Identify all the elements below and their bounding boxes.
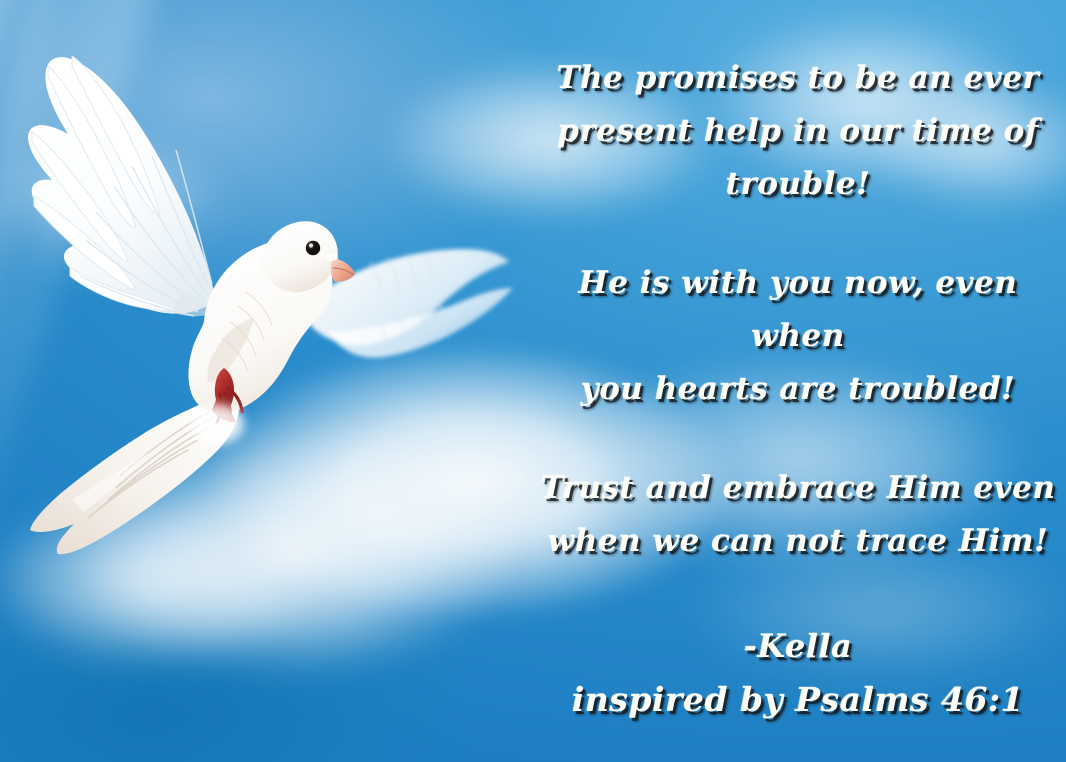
dove-illustration	[10, 0, 550, 560]
quote-author: -Kella	[540, 620, 1056, 673]
quote-line: The promises to be an ever	[540, 52, 1056, 105]
quote-text-block: The promises to be an ever present help …	[540, 52, 1056, 726]
quote-line: Trust and embrace Him even	[540, 462, 1056, 515]
quote-stanza-3: Trust and embrace Him even when we can n…	[540, 462, 1056, 568]
dove-upper-wing	[28, 56, 218, 316]
quote-source: inspired by Psalms 46:1	[540, 673, 1056, 726]
inspirational-poster: The promises to be an ever present help …	[0, 0, 1066, 762]
quote-line: trouble!	[540, 158, 1056, 211]
quote-line: you hearts are troubled!	[540, 363, 1056, 416]
quote-line: He is with you now, even when	[540, 257, 1056, 363]
quote-line: when we can not trace Him!	[540, 515, 1056, 568]
quote-line: present help in our time of	[540, 105, 1056, 158]
attribution-block: -Kella inspired by Psalms 46:1	[540, 620, 1056, 726]
quote-stanza-2: He is with you now, even when you hearts…	[540, 257, 1056, 416]
dove-eye	[306, 241, 320, 255]
quote-stanza-1: The promises to be an ever present help …	[540, 52, 1056, 211]
